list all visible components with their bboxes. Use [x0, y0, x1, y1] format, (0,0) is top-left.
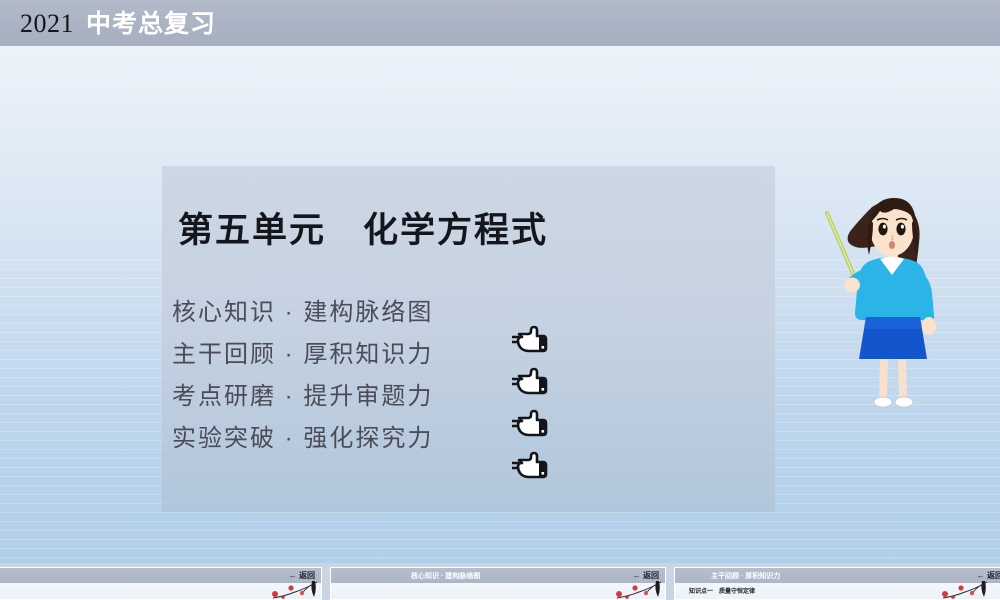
back-button[interactable]: ← 返回 [633, 570, 659, 581]
pointing-hand-icon [421, 422, 463, 454]
thumbnail-slide-3[interactable]: 主干回顾 · 厚积知识力 ← 返回 知识点一 质量守恒定律 [674, 567, 1000, 600]
menu-item-label: 主干回顾 · 厚积知识力 [172, 334, 433, 369]
plum-blossom-decoration [261, 581, 319, 600]
thumbnail-slide-1[interactable]: ← 返回 [0, 567, 322, 600]
thumbnail-title: 主干回顾 · 厚积知识力 [711, 571, 780, 581]
plum-blossom-decoration [931, 581, 989, 600]
pointing-hand-icon [421, 296, 463, 328]
pointing-hand-icon [421, 338, 463, 370]
back-button[interactable]: ← 返回 [977, 570, 1000, 581]
menu-item-label: 考点研磨 · 提升审题力 [172, 376, 433, 411]
presentation-slide: 2021 中考总复习 第五单元 化学方程式 核心知识 · 建构脉络图 主干回顾 … [0, 0, 1000, 563]
slide-header-band: 2021 中考总复习 [0, 0, 1000, 46]
content-panel: 第五单元 化学方程式 核心知识 · 建构脉络图 主干回顾 · 厚积知识力 [162, 166, 775, 512]
plum-blossom-decoration [605, 581, 663, 600]
menu-item-label: 实验突破 · 强化探究力 [172, 418, 433, 453]
thumbnail-slide-2[interactable]: 核心知识 · 建构脉络图 ← 返回 [330, 567, 666, 600]
slide-menu-list: 核心知识 · 建构脉络图 主干回顾 · 厚积知识力 [172, 288, 785, 456]
teacher-with-pointer-icon [800, 185, 975, 410]
header-title-label: 中考总复习 [86, 12, 216, 37]
pointing-hand-icon [421, 380, 463, 412]
page-title: 第五单元 化学方程式 [178, 202, 548, 253]
back-button[interactable]: ← 返回 [289, 570, 315, 581]
thumbnail-subtitle: 知识点一 质量守恒定律 [689, 586, 755, 595]
header-year-label: 2021 [20, 11, 74, 37]
thumbnail-body [331, 583, 665, 600]
thumbnail-title: 核心知识 · 建构脉络图 [411, 571, 480, 581]
menu-item-core-knowledge[interactable]: 核心知识 · 建构脉络图 [172, 288, 785, 330]
thumbnail-body [0, 583, 321, 600]
thumbnail-body: 知识点一 质量守恒定律 [675, 583, 1000, 600]
menu-item-label: 核心知识 · 建构脉络图 [172, 292, 433, 327]
slide-thumbnail-strip: ← 返回 核心知识 · 建构脉络图 ← 返回 [0, 563, 1000, 600]
